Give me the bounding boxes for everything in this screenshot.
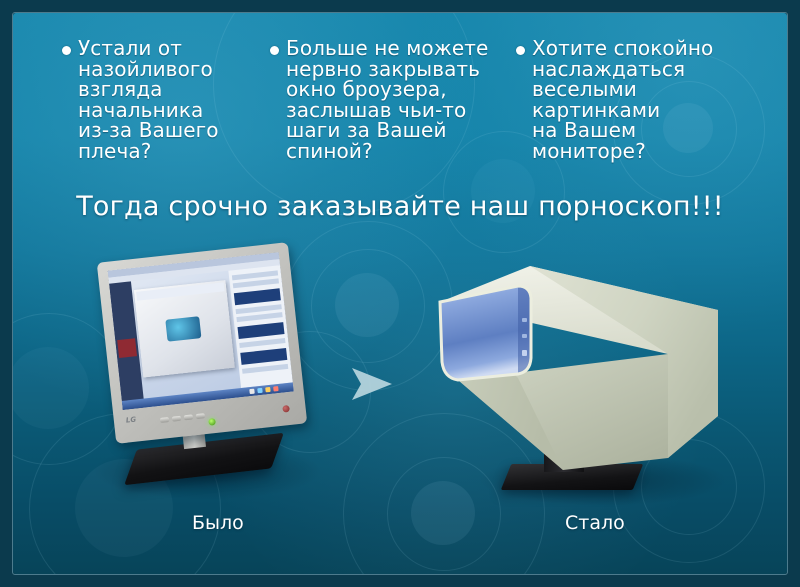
bullet-column-1: Устали от назойливого взгляда начальника…: [62, 38, 262, 161]
monitor-osd-button[interactable]: [184, 414, 193, 420]
caption-after: Стало: [565, 512, 625, 534]
caption-before: Было: [192, 512, 244, 534]
hooded-monitor: [418, 258, 738, 508]
taskbar-tray-icon: [273, 386, 279, 392]
monitor-screen: [108, 252, 294, 410]
bullet-text: Больше не можете нервно закрывать окно б…: [286, 38, 488, 161]
poster: Устали от назойливого взгляда начальника…: [0, 0, 800, 587]
monitor-body: LG: [97, 242, 308, 444]
power-led-icon: [208, 418, 216, 426]
lcd-monitor: LG: [98, 252, 318, 502]
screen-image-thumbnail: [165, 316, 201, 342]
hood-bezel-button: [522, 334, 527, 338]
lg-logo: LG: [126, 416, 137, 425]
bullet-text: Устали от назойливого взгляда начальника…: [78, 38, 219, 161]
bullet-dot-icon: [516, 46, 525, 55]
arrow-right-glyph: [348, 362, 396, 406]
taskbar-tray-icon: [265, 387, 271, 393]
bullet-dot-icon: [270, 46, 279, 55]
monitor-osd-button[interactable]: [160, 417, 169, 423]
hood-shell: [418, 258, 738, 488]
bullet-text: Хотите спокойно наслаждаться веселыми ка…: [532, 38, 713, 161]
hood-screen-shadow: [518, 286, 531, 374]
monitor-osd-button[interactable]: [172, 416, 181, 422]
taskbar-tray-icon: [249, 389, 255, 395]
bullet-item: Больше не можете нервно закрывать окно б…: [270, 38, 500, 161]
monitor-indicator-dot: [282, 405, 290, 413]
arrow-right-icon: [348, 362, 396, 406]
bullet-columns: Устали от назойливого взгляда начальника…: [0, 0, 800, 180]
monitor-osd-button[interactable]: [196, 413, 205, 419]
bullet-column-2: Больше не можете нервно закрывать окно б…: [270, 38, 500, 161]
bullet-column-3: Хотите спокойно наслаждаться веселыми ка…: [516, 38, 746, 161]
headline: Тогда срочно заказывайте наш порноскоп!!…: [0, 190, 800, 224]
bullet-dot-icon: [62, 46, 71, 55]
bullet-item: Хотите спокойно наслаждаться веселыми ка…: [516, 38, 746, 161]
screen-left-thumb: [117, 338, 137, 358]
hood-bezel-button: [522, 318, 527, 322]
taskbar-tray-icon: [257, 388, 263, 394]
hood-bezel-button: [522, 350, 527, 356]
bullet-item: Устали от назойливого взгляда начальника…: [62, 38, 262, 161]
